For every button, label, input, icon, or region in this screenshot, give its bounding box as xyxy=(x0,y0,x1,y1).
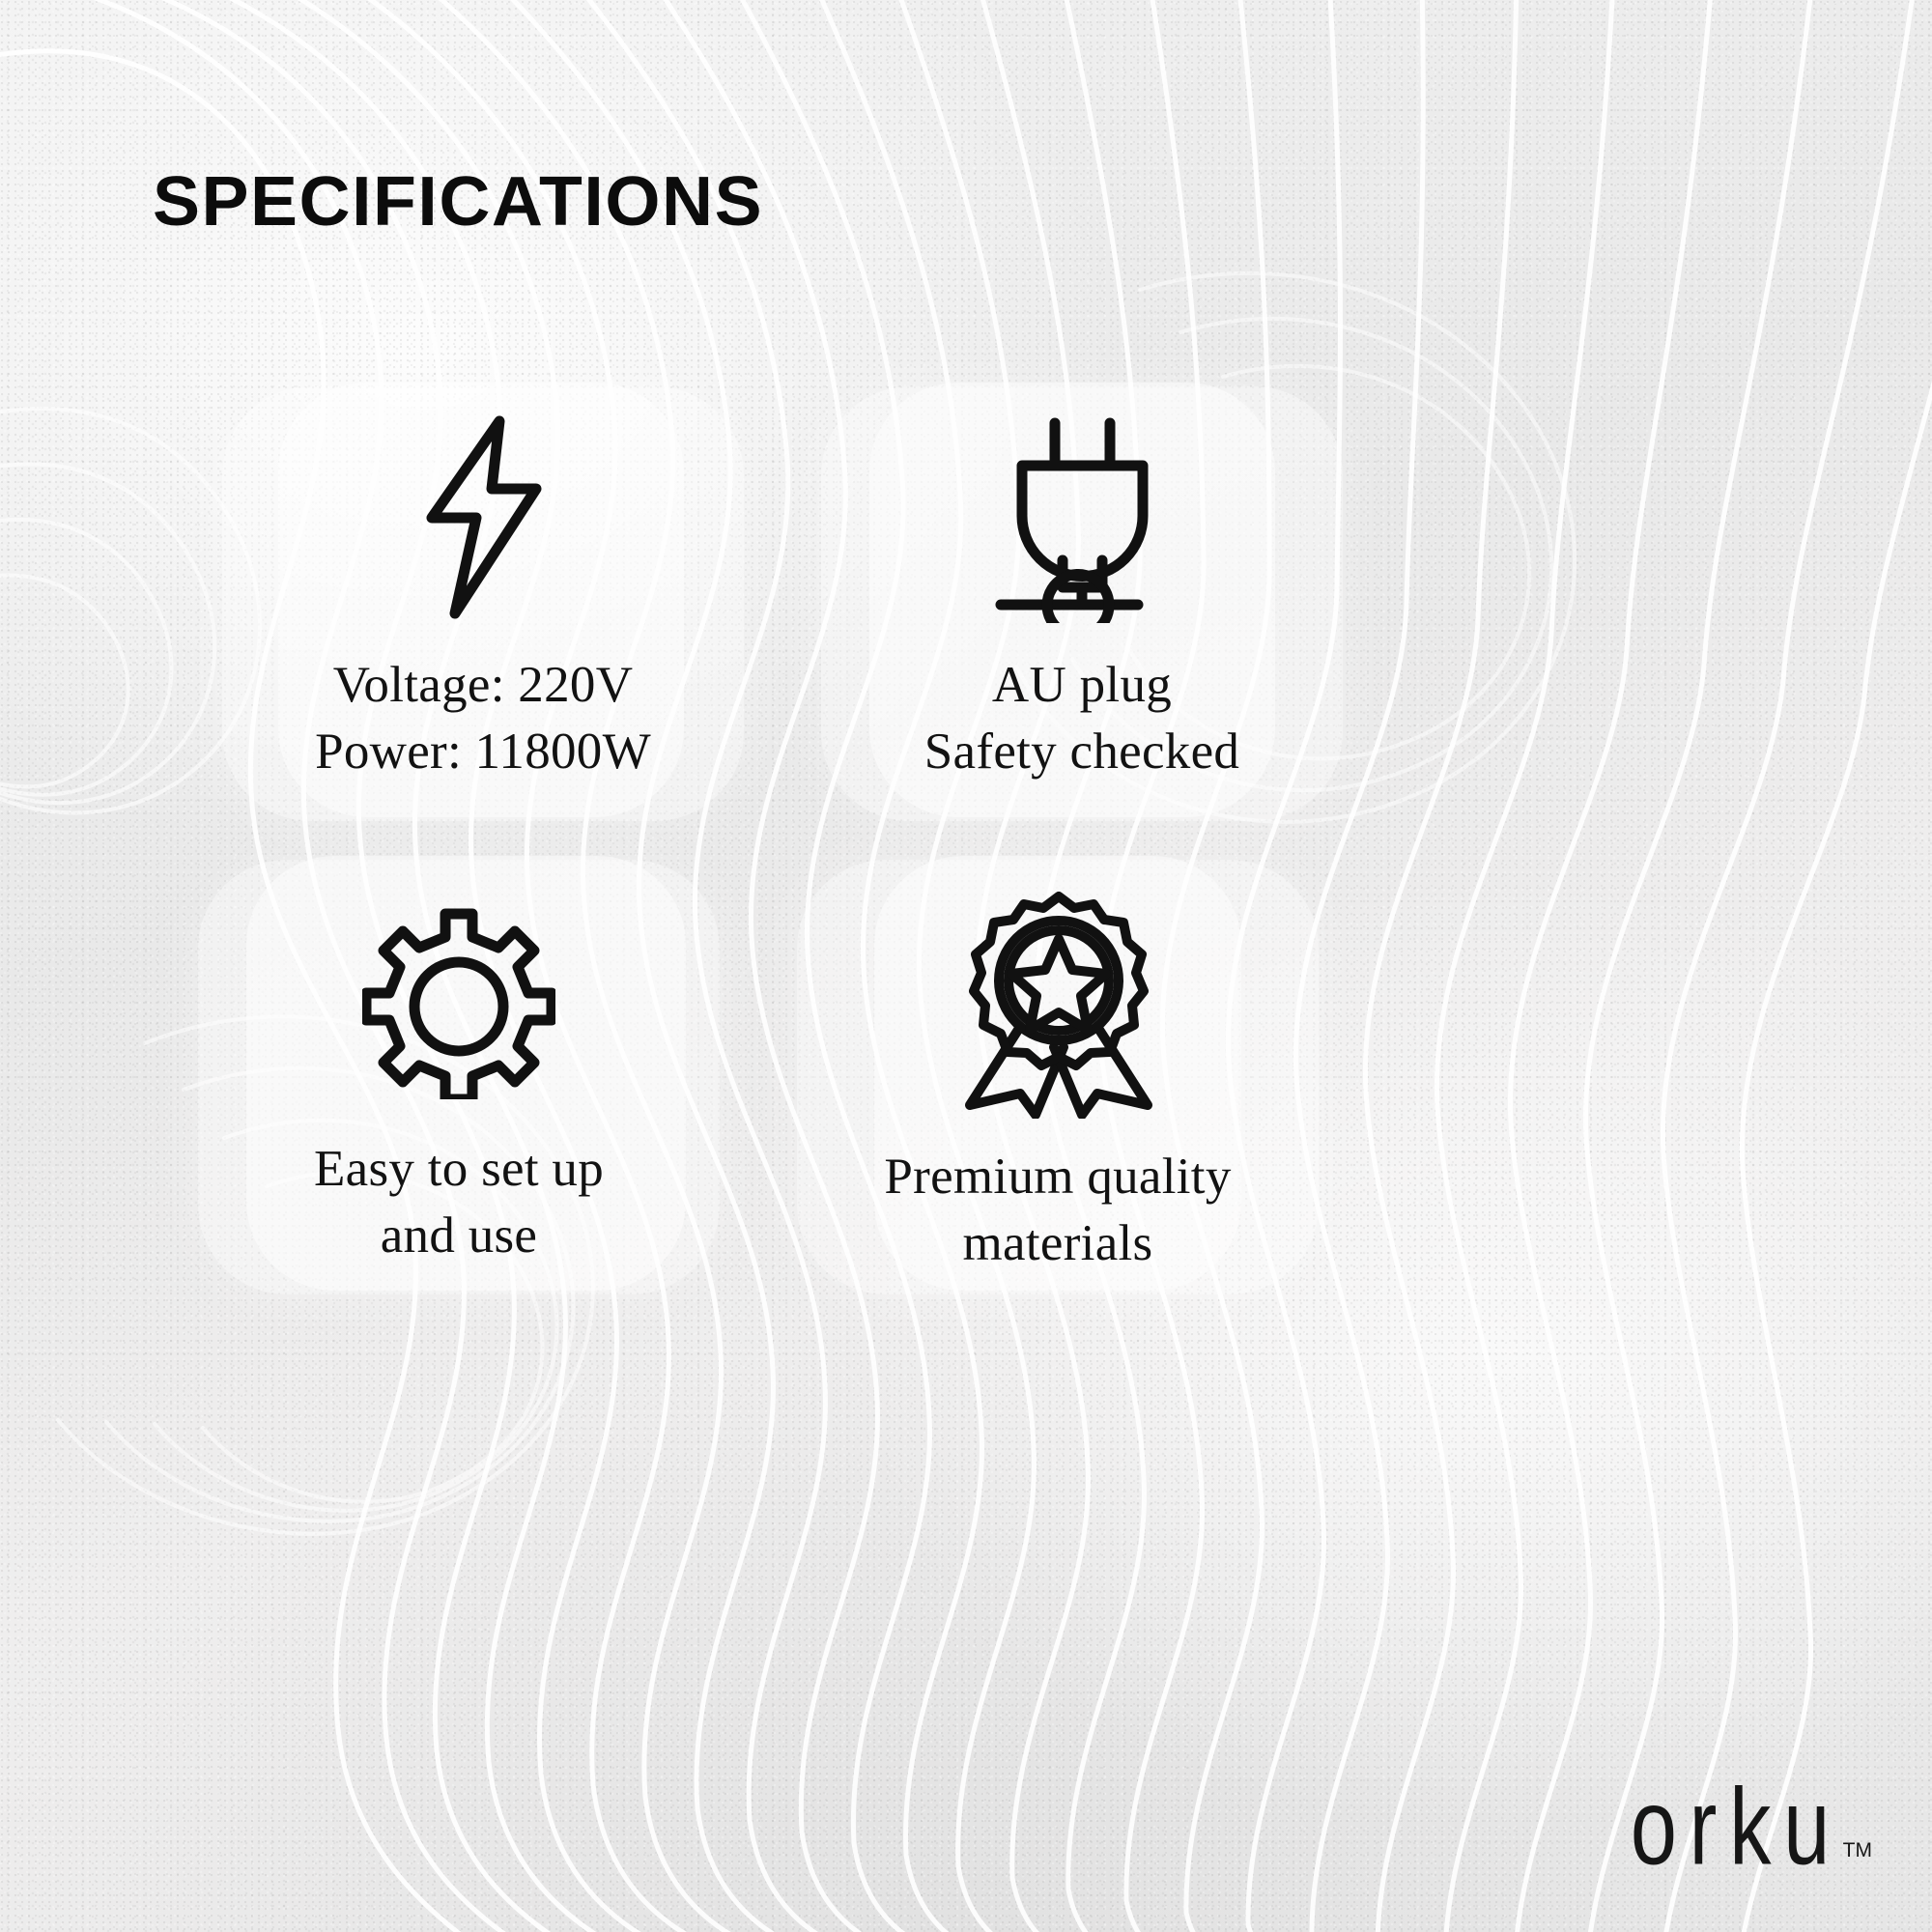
brand-logo: orku TM xyxy=(1577,1780,1872,1876)
lightning-bolt-icon xyxy=(391,413,575,621)
brand-wordmark: orku xyxy=(1630,1776,1841,1876)
spec-card-quality-text: Premium quality materials xyxy=(884,1144,1231,1277)
spec-card-power: Voltage: 220V Power: 11800W xyxy=(222,386,744,821)
spec-card-setup-text: Easy to set up and use xyxy=(314,1136,604,1269)
trademark-symbol: TM xyxy=(1843,1839,1872,1862)
spec-card-quality: Premium quality materials xyxy=(797,860,1319,1294)
gear-icon-wrapper xyxy=(362,906,555,1099)
award-badge-icon xyxy=(954,887,1162,1119)
spec-card-setup: Easy to set up and use xyxy=(198,860,720,1294)
spec-card-plug: AU plug Safety checked xyxy=(821,386,1343,821)
page-title: SPECIFICATIONS xyxy=(153,162,763,241)
spec-card-plug-text: AU plug Safety checked xyxy=(924,652,1239,785)
gear-icon xyxy=(362,906,555,1099)
spec-card-power-text: Voltage: 220V Power: 11800W xyxy=(315,652,651,785)
power-plug-icon-wrapper xyxy=(983,415,1181,623)
lightning-bolt-icon-wrapper xyxy=(391,413,575,621)
power-plug-icon xyxy=(983,415,1181,623)
specifications-page: SPECIFICATIONS Voltage: 220V Power: 1180… xyxy=(0,0,1932,1932)
award-badge-icon-wrapper xyxy=(954,887,1162,1119)
